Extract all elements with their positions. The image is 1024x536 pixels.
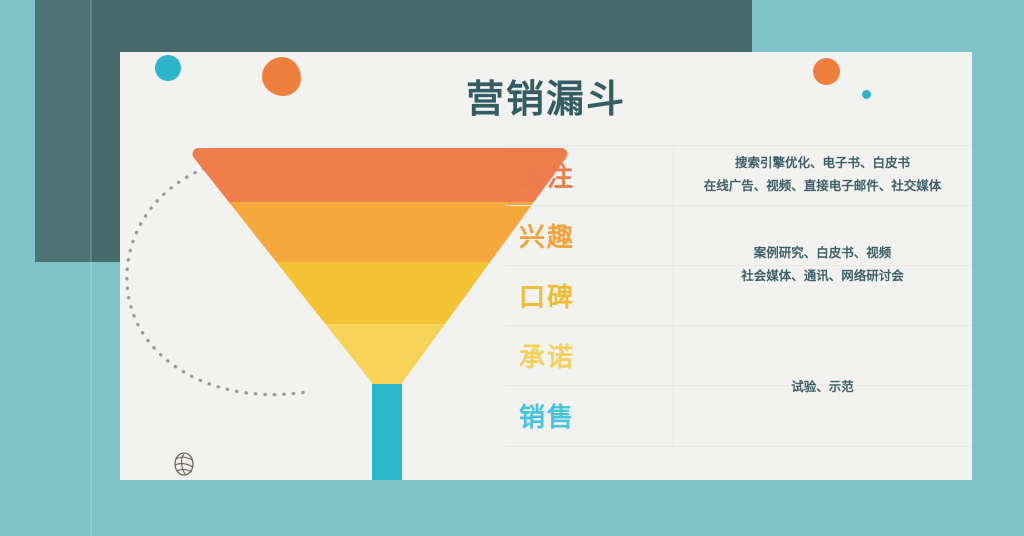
stage-label-awareness: 关注 [519,145,659,205]
description-line: 搜索引擎优化、电子书、白皮书 [735,152,910,175]
stage-label-sale: 销售 [519,385,659,445]
description-group-commitment-sale: 试验、示范 [673,325,972,450]
stage-label-commitment: 承诺 [519,325,659,385]
stage-label-interest: 兴趣 [519,205,659,265]
stage-label-advocacy: 口碑 [519,265,659,325]
description-line: 在线广告、视频、直接电子邮件、社交媒体 [704,175,942,198]
background-vertical-rule [90,0,92,536]
background-accent-block-highlight [35,0,91,262]
egg-outline-logo-icon [172,448,196,476]
content-card: 营销漏斗 [120,52,972,480]
description-group-awareness: 搜索引擎优化、电子书、白皮书 在线广告、视频、直接电子邮件、社交媒体 [673,145,972,205]
slide-canvas: 营销漏斗 [0,0,1024,536]
description-line: 案例研究、白皮书、视频 [754,242,892,265]
description-line: 试验、示范 [791,376,854,399]
page-title: 营销漏斗 [120,68,972,123]
funnel-stage-table: 关注 兴趣 口碑 承诺 销售 搜索引擎优化、电子书、白皮书 在线广告、视频、直接… [505,145,972,450]
description-group-interest-advocacy: 案例研究、白皮书、视频 社会媒体、通讯、网络研讨会 [673,205,972,325]
description-line: 社会媒体、通讯、网络研讨会 [741,265,904,288]
